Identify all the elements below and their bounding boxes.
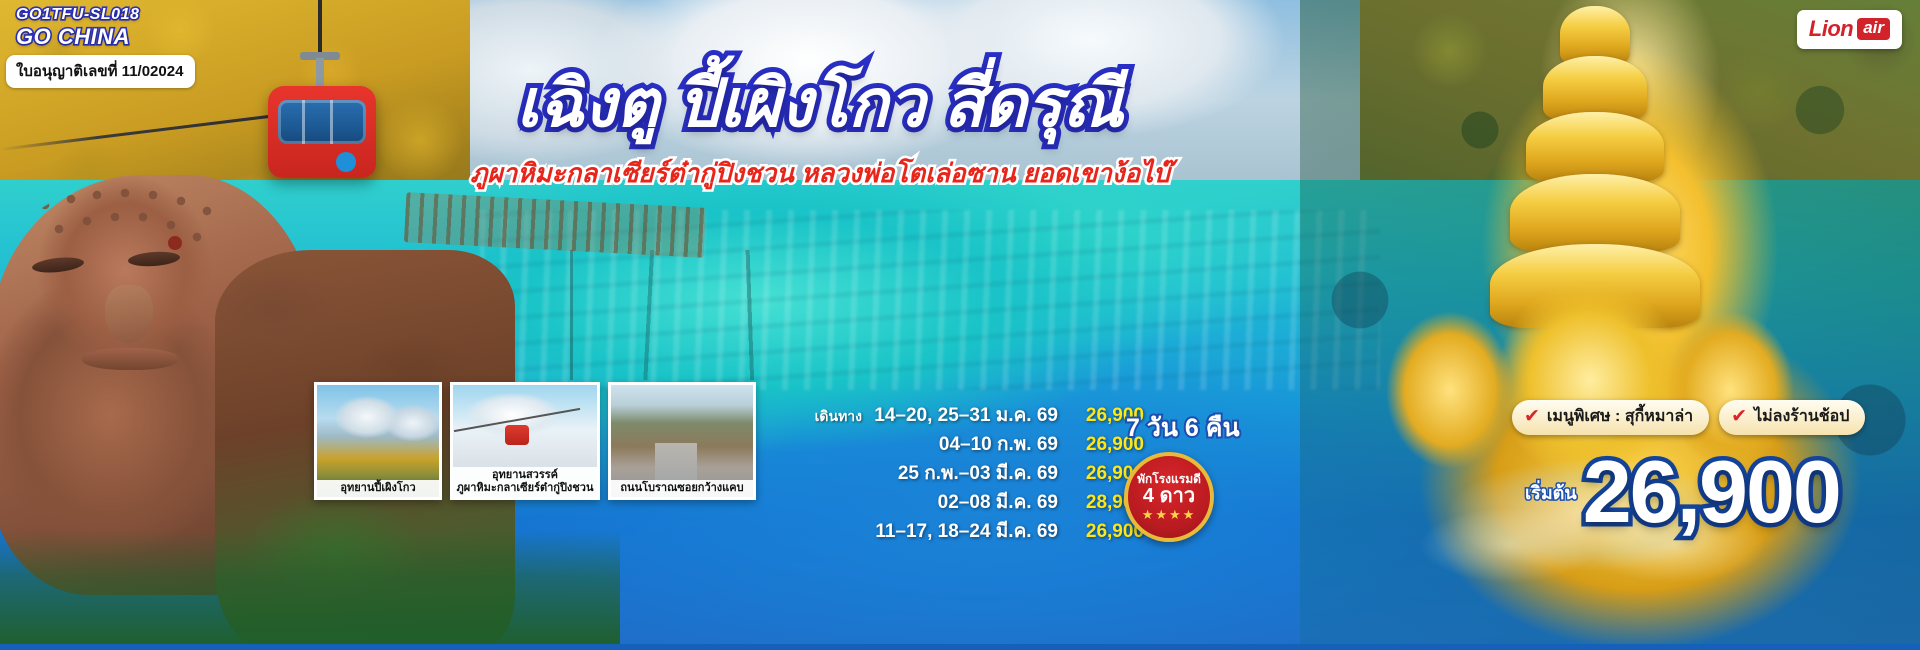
hotel-badge-line1: พักโรงแรมดี [1137, 473, 1201, 485]
departure-table: เดินทาง 14–20, 25–31 ม.ค. 69 26,900 04–1… [800, 400, 1144, 545]
table-row: เดินทาง 14–20, 25–31 ม.ค. 69 26,900 [800, 400, 1144, 426]
feature-pills: ✔ เมนูพิเศษ : สุกี้หมาล่า ✔ ไม่ลงร้านช้อ… [1512, 400, 1865, 435]
departure-date: 25 ก.พ.–03 มี.ค. 69 [868, 458, 1068, 488]
table-row: 25 ก.พ.–03 มี.ค. 69 26,900 [800, 458, 1144, 484]
check-icon: ✔ [1731, 407, 1747, 426]
cable-window-divider-2 [330, 100, 333, 144]
cable-car-window [278, 100, 366, 144]
feature-label: เมนูพิเศษ : สุกี้หมาล่า [1547, 404, 1693, 429]
tour-code-block: GO1TFU-SL018 GO CHINA [16, 6, 139, 49]
check-icon: ✔ [1524, 407, 1540, 426]
departure-date: 04–10 ก.พ. 69 [868, 429, 1068, 459]
thumbnail-caption: ถนนโบราณซอยกว้างแคบ [611, 480, 753, 497]
departure-date: 11–17, 18–24 มี.ค. 69 [868, 516, 1068, 546]
buddha-nose [105, 285, 153, 343]
thumbnail-caption: อุทยานปี้เผิงโกว [317, 480, 439, 497]
cable-rope [318, 0, 322, 60]
airline-badge: air [1857, 18, 1890, 40]
feature-pill: ✔ ไม่ลงร้านช้อป [1719, 400, 1865, 435]
hotel-badge-line2: 4 ดาว [1143, 485, 1195, 508]
tour-code: GO1TFU-SL018 [16, 6, 139, 23]
cable-car-light [336, 152, 356, 172]
trip-duration: 7 วัน 6 คืน [1126, 408, 1240, 448]
page-title: เฉิงตู ปี้เผิงโกว สี่ดรุณี [425, 70, 1215, 136]
brand-name: GO CHINA [16, 25, 139, 49]
table-row: 04–10 ก.พ. 69 26,900 [800, 429, 1144, 455]
travel-promo-banner: GO1TFU-SL018 GO CHINA ใบอนุญาติเลขที่ 11… [0, 0, 1920, 650]
price-amount: 26,900 [1583, 452, 1840, 533]
hotel-star-badge: พักโรงแรมดี 4 ดาว ★★★★ [1124, 452, 1214, 542]
thumbnail-item[interactable]: อุทยานปี้เผิงโกว [314, 382, 442, 500]
cable-car-icon [505, 425, 529, 445]
star-rating-icon: ★★★★ [1142, 508, 1197, 521]
table-row: 11–17, 18–24 มี.ค. 69 26,900 [800, 516, 1144, 542]
feature-pill: ✔ เมนูพิเศษ : สุกี้หมาล่า [1512, 400, 1709, 435]
thumbnail-caption: อุทยานสวรรค์ภูผาหิมะกลาเซียร์ต๋ากู่ปิงชว… [453, 467, 597, 497]
foreground-foliage [0, 530, 620, 650]
price-from-label: เริ่มต้น [1525, 478, 1577, 507]
departure-date: 14–20, 25–31 ม.ค. 69 [868, 400, 1068, 430]
airline-name: Lion [1809, 16, 1853, 42]
submerged-trees [560, 250, 980, 380]
price-block: เริ่มต้น 26,900 [1525, 452, 1840, 533]
license-number: ใบอนุญาติเลขที่ 11/02024 [6, 55, 195, 88]
table-row: 02–08 มี.ค. 69 28,900 [800, 487, 1144, 513]
airline-logo: Lion air [1797, 10, 1902, 49]
cable-window-divider-1 [302, 100, 305, 144]
thumbnail-item[interactable]: อุทยานสวรรค์ภูผาหิมะกลาเซียร์ต๋ากู่ปิงชว… [450, 382, 600, 500]
departure-label: เดินทาง [800, 406, 868, 428]
bottom-accent-bar [0, 644, 1920, 650]
thumbnail-item[interactable]: ถนนโบราณซอยกว้างแคบ [608, 382, 756, 500]
buddha-lips [82, 348, 178, 370]
feature-label: ไม่ลงร้านช้อป [1754, 404, 1849, 429]
destination-thumbnails: อุทยานปี้เผิงโกว อุทยานสวรรค์ภูผาหิมะกลา… [314, 382, 756, 500]
buddha-forehead-dot [168, 236, 182, 250]
page-subtitle: ภูผาหิมะกลาเซียร์ต๋ากู่ปิงชวน หลวงพ่อโตเ… [400, 160, 1240, 186]
departure-date: 02–08 มี.ค. 69 [868, 487, 1068, 517]
